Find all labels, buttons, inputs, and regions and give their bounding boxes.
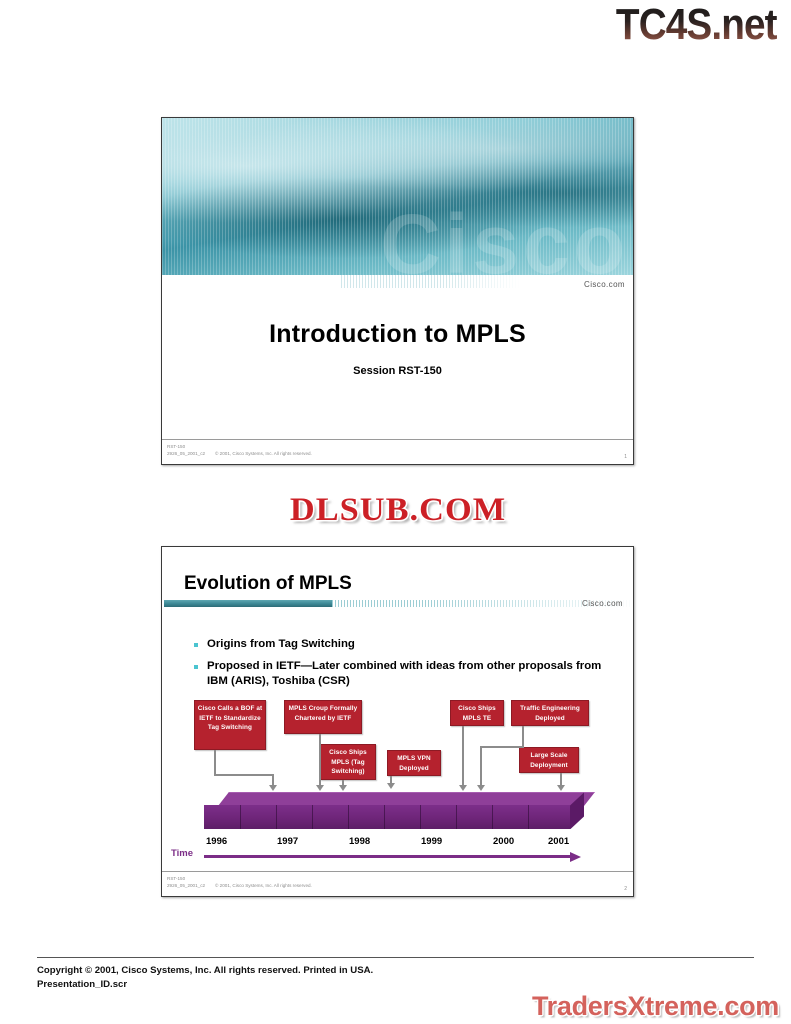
connector-line [480, 746, 524, 748]
time-axis-arrowhead [570, 852, 581, 862]
event-box: MPLS VPN Deployed [387, 750, 441, 776]
cisco-com-label: Cisco.com [582, 599, 623, 608]
year-label: 1997 [277, 836, 298, 847]
slide-2-footer-line2: 2926_05_2001_c2© 2001, Cisco Systems, In… [167, 882, 312, 889]
event-box: Cisco Ships MPLS TE [450, 700, 504, 726]
slide-2-deck-id: RST-150 [167, 875, 312, 882]
year-label: 2001 [548, 836, 569, 847]
slide-2-header: Evolution of MPLS Cisco.com [162, 547, 633, 619]
connector-line [462, 726, 464, 786]
slide-1-deck-id: RST-150 [167, 443, 312, 450]
year-label: 1999 [421, 836, 442, 847]
slide-2-title: Evolution of MPLS [162, 547, 633, 595]
tc4s-watermark: TC4S.net [616, 2, 777, 48]
bottom-divider [37, 957, 754, 958]
connector-line [214, 750, 216, 776]
timeline-bar [204, 792, 584, 836]
tradersxtreme-watermark: TradersXtreme.com [532, 991, 779, 1022]
connector-arrowhead [387, 783, 395, 789]
bottom-copyright-block: Copyright © 2001, Cisco Systems, Inc. Al… [37, 964, 373, 992]
event-box: MPLS Croup Formally Chartered by IETF [284, 700, 362, 734]
cisco-com-label: Cisco.com [584, 280, 625, 289]
slide-1-subtitle: Session RST-150 [162, 349, 633, 377]
event-box: Traffic Engineering Deployed [511, 700, 589, 726]
slide-1-title: Introduction to MPLS [162, 290, 633, 349]
year-label: 1996 [206, 836, 227, 847]
slide-1-footer-left: RST-150 2926_05_2001_c2© 2001, Cisco Sys… [167, 443, 312, 457]
connector-arrowhead [316, 785, 324, 791]
connector-arrowhead [477, 785, 485, 791]
connector-arrowhead [557, 785, 565, 791]
timeline-diagram: Cisco Calls a BOF at IETF to Standardize… [162, 696, 633, 871]
cisco-ghost-text: Cisco [380, 202, 629, 286]
slide-2-bullet-list: Origins from Tag Switching Proposed in I… [162, 619, 633, 689]
connector-line [319, 734, 321, 786]
copyright-line-1: Copyright © 2001, Cisco Systems, Inc. Al… [37, 964, 373, 978]
bullet-item: Origins from Tag Switching [194, 637, 607, 652]
slide-1-footer-line2: 2926_05_2001_c2© 2001, Cisco Systems, In… [167, 450, 312, 457]
slide-2-footer-left: RST-150 2926_05_2001_c2© 2001, Cisco Sys… [167, 875, 312, 889]
connector-arrowhead [459, 785, 467, 791]
time-axis-arrow [204, 852, 586, 862]
teal-rule [164, 600, 631, 607]
slide-1-doc-number: 2926_05_2001_c2 [167, 450, 215, 457]
slide-1-footer-copyright: © 2001, Cisco Systems, Inc. All rights r… [215, 451, 312, 456]
event-box: Cisco Calls a BOF at IETF to Standardize… [194, 700, 266, 750]
slide-2-footer-copyright: © 2001, Cisco Systems, Inc. All rights r… [215, 883, 312, 888]
connector-arrowhead [269, 785, 277, 791]
connector-arrowhead [339, 785, 347, 791]
slide-1-banner: Cisco Cisco.com [162, 118, 633, 290]
slide-1-body: Introduction to MPLS Session RST-150 [162, 290, 633, 438]
timeline-bar-top-face [218, 792, 595, 806]
time-axis-line [204, 855, 572, 858]
bullet-item: Proposed in IETF—Later combined with ide… [194, 659, 607, 689]
dlsub-watermark: DLSUB.COM [252, 492, 543, 529]
connector-line [214, 774, 274, 776]
slide-1-page-number: 1 [624, 454, 627, 460]
year-label: 1998 [349, 836, 370, 847]
time-axis-label: Time [171, 848, 193, 859]
slide-1-footer: RST-150 2926_05_2001_c2© 2001, Cisco Sys… [162, 439, 633, 464]
banner-bottom-strip: Cisco.com [162, 275, 633, 290]
banner-stripe-overlay [162, 118, 633, 290]
slide-2-footer: RST-150 2926_05_2001_c2© 2001, Cisco Sys… [162, 871, 633, 896]
copyright-line-2: Presentation_ID.scr [37, 978, 373, 992]
slide-2: Evolution of MPLS Cisco.com Origins from… [161, 546, 634, 897]
slide-2-page-number: 2 [624, 886, 627, 892]
connector-line [480, 746, 482, 786]
slide-2-doc-number: 2926_05_2001_c2 [167, 882, 215, 889]
banner-comb-pattern [341, 275, 520, 288]
connector-line [522, 726, 524, 748]
event-box: Cisco Ships MPLS (Tag Switching) [320, 744, 376, 780]
event-box: Large Scale Deployment [519, 747, 579, 773]
slide-1: Cisco Cisco.com Introduction to MPLS Ses… [161, 117, 634, 465]
timeline-year-labels: 1996 1997 1998 1999 2000 2001 [204, 836, 584, 850]
teal-rule-solid [164, 600, 332, 607]
timeline-bar-front-face [204, 805, 570, 829]
year-label: 2000 [493, 836, 514, 847]
